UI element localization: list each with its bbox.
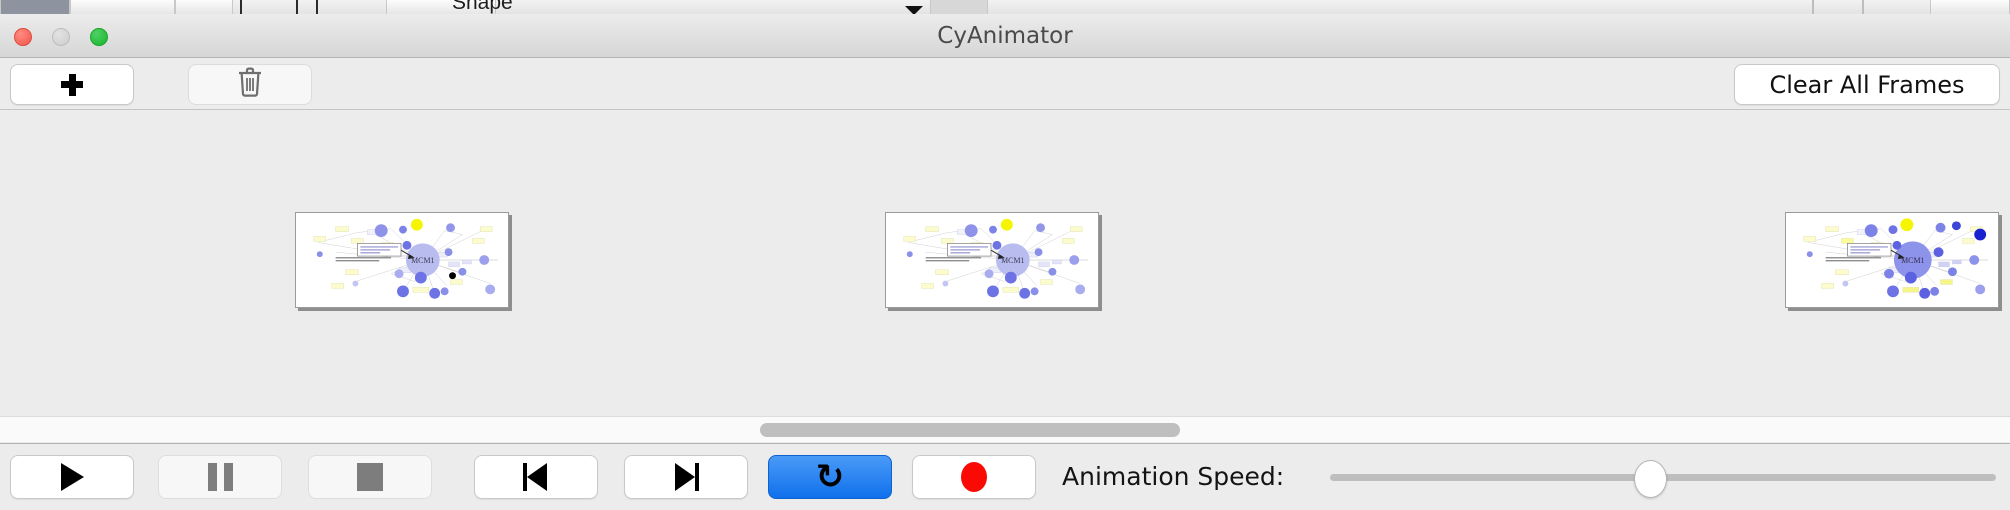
bg-tick <box>296 0 298 14</box>
timeline-scrollbar-thumb[interactable] <box>760 423 1180 437</box>
svg-text:MCM1: MCM1 <box>411 256 434 265</box>
playback-toolbar: ↻ Animation Speed: <box>0 443 2010 510</box>
bg-tick <box>1812 0 1814 14</box>
clear-all-frames-button[interactable]: Clear All Frames <box>1734 64 2000 105</box>
timeline-frame-thumbnail[interactable]: MCM1 <box>295 212 509 308</box>
network-graph-thumbnail: MCM1 <box>886 213 1098 307</box>
trash-icon <box>237 67 263 102</box>
plus-icon <box>61 74 83 96</box>
bg-tick <box>316 0 318 14</box>
stop-icon <box>357 463 383 491</box>
close-window-button[interactable] <box>14 28 32 46</box>
skip-next-icon <box>673 463 699 491</box>
add-frame-button[interactable] <box>10 64 134 105</box>
loop-button[interactable]: ↻ <box>768 455 892 499</box>
delete-frame-button[interactable] <box>188 64 312 105</box>
bg-chip <box>0 0 70 14</box>
play-icon <box>61 463 84 491</box>
frame-toolbar: Clear All Frames <box>0 58 2010 110</box>
svg-text:MCM1: MCM1 <box>1001 256 1024 265</box>
skip-previous-icon <box>523 463 549 491</box>
bg-chip <box>1930 0 2010 14</box>
play-button[interactable] <box>10 455 134 499</box>
skip-to-start-button[interactable] <box>474 455 598 499</box>
record-button[interactable] <box>912 455 1036 499</box>
pause-button[interactable] <box>158 455 282 499</box>
bg-chip <box>930 0 988 14</box>
bg-chip <box>70 0 175 14</box>
maximize-window-button[interactable] <box>90 28 108 46</box>
timeline-frame-thumbnail[interactable]: MCM1 <box>885 212 1099 308</box>
bg-chip <box>175 0 233 14</box>
timeline-frame-thumbnail[interactable]: MCM1 <box>1785 212 1999 308</box>
pause-icon <box>208 463 233 491</box>
skip-to-end-button[interactable] <box>624 455 748 499</box>
timeline-panel[interactable]: MCM1 <box>0 110 2010 410</box>
bg-tick <box>240 0 242 14</box>
loop-icon: ↻ <box>816 460 845 494</box>
record-icon <box>961 462 987 492</box>
minimize-window-button[interactable] <box>52 28 70 46</box>
network-graph-thumbnail: MCM1 <box>1786 213 1998 307</box>
bg-window-partial-label: Shape <box>452 0 513 15</box>
slider-thumb[interactable] <box>1634 460 1667 498</box>
network-graph-thumbnail: MCM1 <box>296 213 508 307</box>
page-title: CyAnimator <box>0 14 2010 58</box>
stop-button[interactable] <box>308 455 432 499</box>
window-titlebar: CyAnimator <box>0 14 2010 58</box>
timeline-scrollbar[interactable] <box>0 416 2010 442</box>
svg-text:MCM1: MCM1 <box>1901 256 1924 265</box>
animation-speed-slider[interactable] <box>1330 455 1996 499</box>
animation-speed-label: Animation Speed: <box>1062 455 1284 499</box>
bg-tick <box>1862 0 1864 14</box>
background-window-strip: Shape <box>0 0 2010 15</box>
